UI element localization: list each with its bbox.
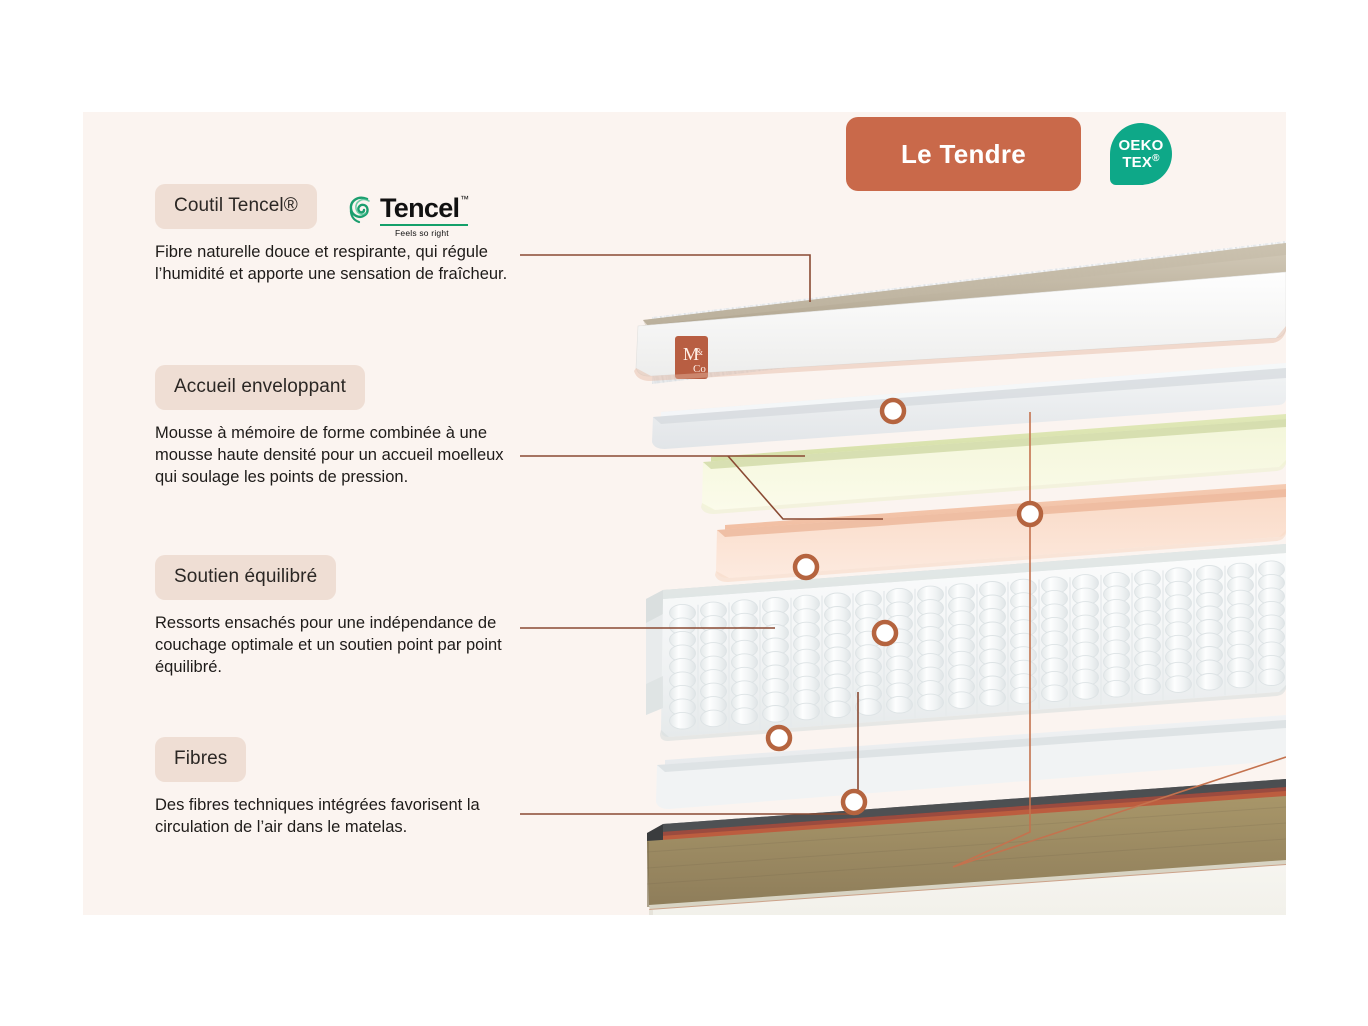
- feature-description: Fibre naturelle douce et respirante, qui…: [155, 242, 515, 286]
- feature-chip-label: Soutien équilibré: [174, 566, 317, 587]
- product-title-chip: Le Tendre: [846, 117, 1081, 191]
- feature-description: Des fibres techniques intégrées favorise…: [155, 795, 515, 839]
- feature-chip-soutien-equilibre[interactable]: Soutien équilibré: [155, 555, 336, 600]
- feature-coutil-tencel: Coutil Tencel® Fibre naturelle douce et …: [155, 184, 535, 286]
- marker-coutil-tencel[interactable]: [882, 400, 904, 422]
- feature-chip-fibres[interactable]: Fibres: [155, 737, 246, 782]
- feature-chip-label: Fibres: [174, 748, 227, 769]
- connector-coutil-tencel: [520, 255, 810, 302]
- mattress-infographic-panel: M & Co: [83, 112, 1286, 915]
- feature-chip-label: Coutil Tencel®: [174, 195, 298, 216]
- product-title: Le Tendre: [901, 139, 1026, 170]
- feature-accueil-enveloppant: Accueil enveloppant Mousse à mémoire de …: [155, 365, 535, 489]
- feature-chip-label: Accueil enveloppant: [174, 376, 346, 397]
- oeko-line-2: TEX®: [1122, 154, 1159, 170]
- brand-tag-mco: M & Co: [675, 336, 708, 379]
- feature-chip-accueil-enveloppant[interactable]: Accueil enveloppant: [155, 365, 365, 410]
- feature-fibres: Fibres Des fibres techniques intégrées f…: [155, 737, 535, 839]
- oeko-tex-text: TEX: [1122, 154, 1152, 171]
- layer-quilted-tencel-cover: M & Co: [634, 241, 1286, 384]
- feature-soutien-equilibre: Soutien équilibré Ressorts ensachés pour…: [155, 555, 535, 679]
- feature-description: Mousse à mémoire de forme combinée à une…: [155, 423, 515, 489]
- marker-base-fiber[interactable]: [843, 791, 865, 813]
- oeko-line-1: OEKO: [1119, 138, 1164, 153]
- oeko-tex-badge: OEKO TEX®: [1110, 123, 1172, 185]
- feature-description: Ressorts ensachés pour une indépendance …: [155, 613, 515, 679]
- marker-pocket-springs[interactable]: [768, 727, 790, 749]
- marker-memory-foam[interactable]: [874, 622, 896, 644]
- marker-high-density-foam[interactable]: [795, 556, 817, 578]
- feature-chip-coutil-tencel[interactable]: Coutil Tencel®: [155, 184, 317, 229]
- oeko-registered-mark: ®: [1152, 153, 1160, 164]
- marker-fiber-layer[interactable]: [1019, 503, 1041, 525]
- svg-text:&: &: [696, 347, 703, 357]
